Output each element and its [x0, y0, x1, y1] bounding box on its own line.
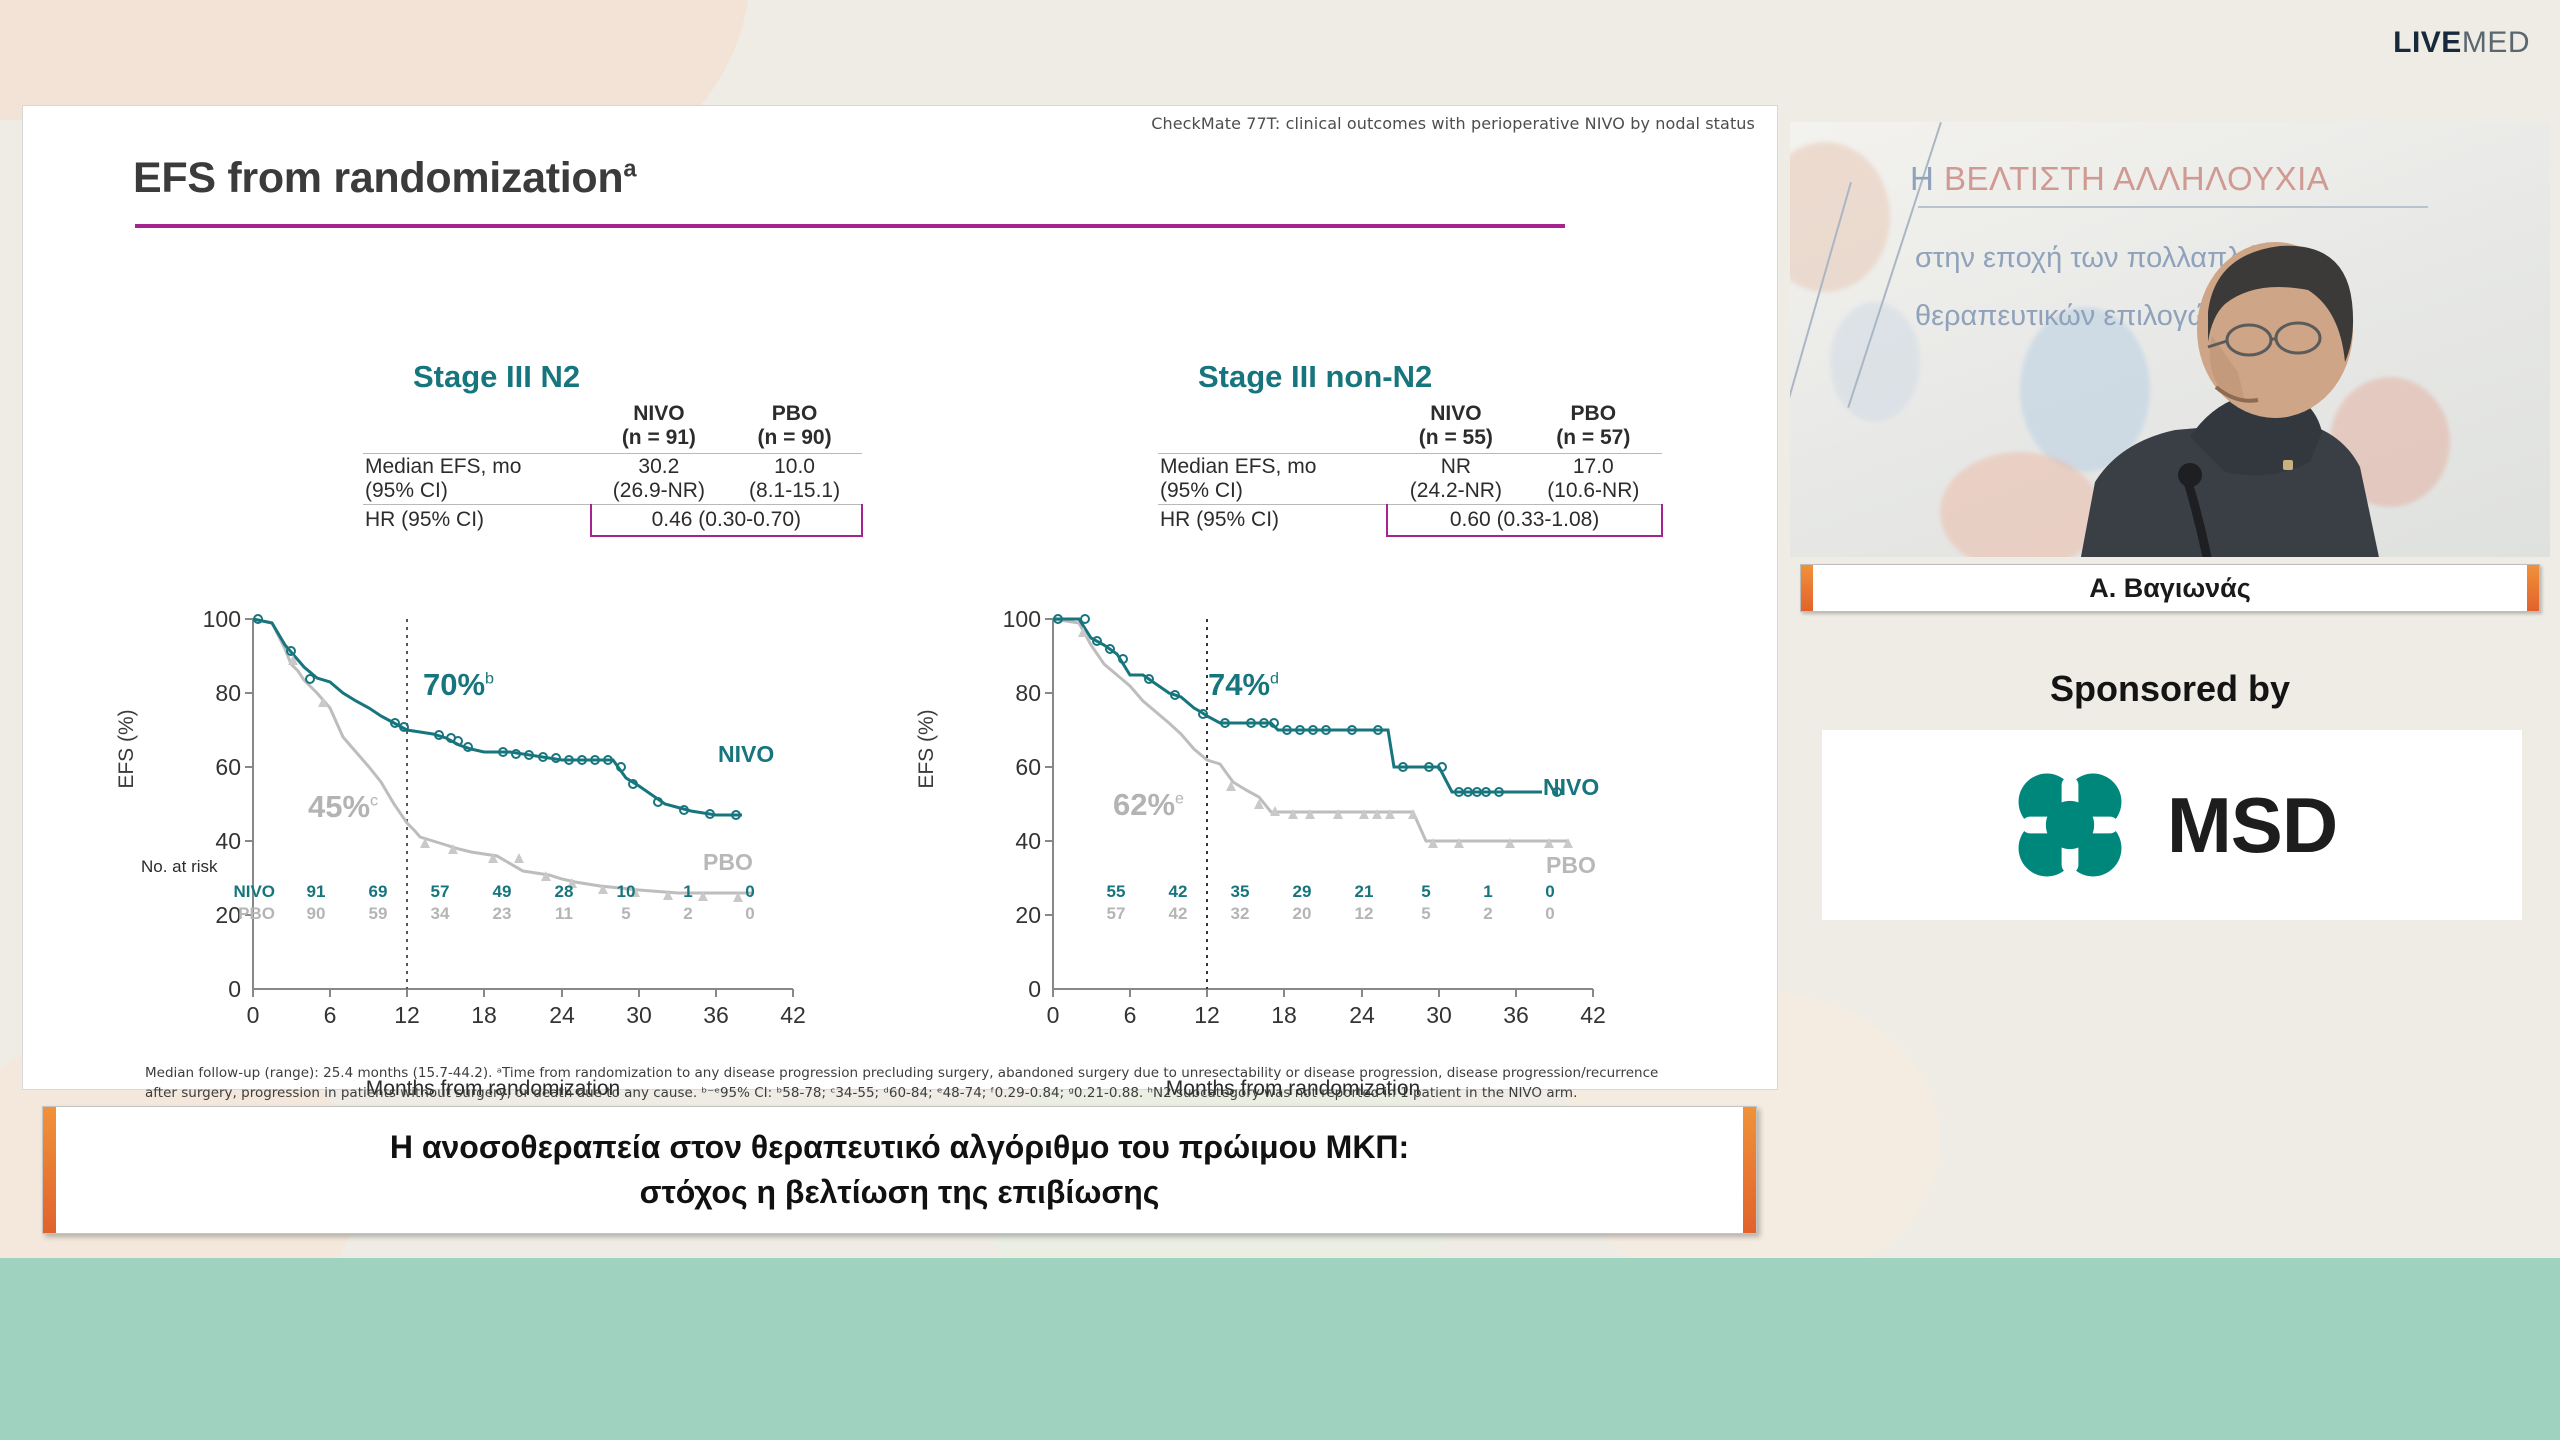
svg-text:42: 42	[1580, 1002, 1606, 1028]
row-label-median-efs-left-l1: Median EFS, mo	[365, 455, 521, 478]
svg-text:30: 30	[1426, 1002, 1452, 1028]
svg-text:18: 18	[1271, 1002, 1297, 1028]
at-risk-cell: 91	[285, 881, 347, 903]
at-risk-cell: 0	[1519, 903, 1581, 925]
stats-table-right: NIVO (n = 55) PBO (n = 57) Median EFS, m…	[1158, 401, 1663, 537]
col-header-pbo-left-n: (n = 90)	[758, 426, 832, 449]
table-row: NIVO 91 69 57 49 28 10 1 0	[223, 881, 781, 903]
milestone-pbo-left: 45%c	[308, 789, 378, 825]
svg-text:0: 0	[1028, 976, 1041, 1002]
at-risk-cell: 0	[1519, 881, 1581, 903]
presentation-slide[interactable]: CheckMate 77T: clinical outcomes with pe…	[22, 105, 1778, 1090]
speaker-name-bar: Α. Βαγιωνάς	[1800, 564, 2540, 612]
svg-text:6: 6	[324, 1002, 337, 1028]
cell-median-efs-nivo-left: 30.2 (26.9-NR)	[591, 454, 727, 505]
at-risk-row-spacer-nivo-right	[1023, 881, 1085, 903]
at-risk-cell: 5	[1395, 881, 1457, 903]
at-risk-cell: 1	[657, 881, 719, 903]
at-risk-caption-left: No. at risk	[141, 857, 218, 877]
milestone-nivo-left-sup: b	[485, 670, 494, 688]
msd-mark-icon	[2007, 762, 2133, 888]
sponsored-by-label: Sponsored by	[1800, 668, 2540, 710]
at-risk-cell: 12	[1333, 903, 1395, 925]
svg-text:36: 36	[703, 1002, 729, 1028]
svg-text:60: 60	[215, 754, 241, 780]
cell-median-efs-pbo-right-ci: (10.6-NR)	[1547, 479, 1639, 502]
cell-median-efs-pbo-right: 17.0 (10.6-NR)	[1525, 454, 1662, 505]
slide-title-superscript: a	[623, 157, 636, 183]
table-row: Median EFS, mo (95% CI) 30.2 (26.9-NR) 1…	[363, 454, 862, 505]
slide-footnotes: Median follow-up (range): 25.4 months (1…	[145, 1064, 1675, 1103]
svg-text:12: 12	[394, 1002, 420, 1028]
livemed-logo-bold: LIVE	[2393, 26, 2462, 59]
at-risk-cell: 34	[409, 903, 471, 925]
video-overlay-line1-plain: Η	[1910, 160, 1944, 197]
banner-text: Η ανοσοθεραπεία στον θεραπευτικό αλγόριθ…	[43, 1107, 1756, 1233]
y-axis-label-left: EFS (%)	[115, 709, 139, 788]
livemed-logo-light: MED	[2462, 26, 2530, 59]
at-risk-cell: 42	[1147, 903, 1209, 925]
km-svg-left: 100 80 60 40 20 0 0 6 12 18 24 30	[163, 599, 883, 1069]
series-label-nivo-left: NIVO	[718, 741, 774, 768]
at-risk-cell: 49	[471, 881, 533, 903]
svg-text:0: 0	[247, 1002, 260, 1028]
at-risk-cell: 69	[347, 881, 409, 903]
chart-panel-stage-iii-n2: Stage III N2 NIVO (n = 91) PBO (n = 90)	[123, 341, 933, 981]
km-plot-right: EFS (%) 100 80 60 40 20 0 0 6	[923, 599, 1733, 849]
at-risk-cell: 28	[533, 881, 595, 903]
milestone-pbo-right: 62%e	[1113, 787, 1184, 823]
svg-text:100: 100	[203, 606, 241, 632]
km-plot-left: EFS (%) 100 80 60 40 20 0	[123, 599, 933, 849]
at-risk-cell: 5	[595, 903, 657, 925]
cell-median-efs-nivo-right-v: NR	[1441, 455, 1471, 478]
at-risk-cell: 59	[347, 903, 409, 925]
stats-table-left: NIVO (n = 91) PBO (n = 90) Median EFS, m…	[363, 401, 863, 537]
at-risk-cell: 20	[1271, 903, 1333, 925]
speaker-video[interactable]: Η ΒΕΛΤΙΣΤΗ ΑΛΛΗΛΟΥΧΙΑ στην εποχή των πολ…	[1790, 122, 2550, 557]
row-label-hr-right: HR (95% CI)	[1158, 504, 1387, 536]
at-risk-cell: 29	[1271, 881, 1333, 903]
col-header-nivo-left-name: NIVO	[633, 402, 684, 425]
table-row: 57 42 32 20 12 5 2 0	[1023, 903, 1581, 925]
svg-text:80: 80	[215, 680, 241, 706]
svg-text:100: 100	[1003, 606, 1041, 632]
milestone-nivo-left: 70%b	[423, 667, 494, 703]
at-risk-cell: 2	[657, 903, 719, 925]
at-risk-cell: 2	[1457, 903, 1519, 925]
cell-median-efs-pbo-right-v: 17.0	[1573, 455, 1614, 478]
chart-panel-stage-iii-non-n2: Stage III non-N2 NIVO (n = 55) PBO (n = …	[923, 341, 1733, 981]
at-risk-cell: 1	[1457, 881, 1519, 903]
row-label-median-efs-right-l2: (95% CI)	[1160, 479, 1243, 502]
livemed-logo: LIVEMED	[2393, 26, 2530, 60]
cell-median-efs-nivo-right-ci: (24.2-NR)	[1410, 479, 1502, 502]
at-risk-cell: 11	[533, 903, 595, 925]
col-header-pbo-left: PBO (n = 90)	[727, 401, 862, 454]
row-label-median-efs-left: Median EFS, mo (95% CI)	[363, 454, 591, 505]
at-risk-cell: 55	[1085, 881, 1147, 903]
at-risk-row-spacer-pbo-right	[1023, 903, 1085, 925]
sponsor-name: MSD	[2167, 780, 2337, 871]
milestone-nivo-right-value: 74%	[1208, 667, 1270, 702]
video-overlay-line1: Η ΒΕΛΤΙΣΤΗ ΑΛΛΗΛΟΥΧΙΑ	[1910, 160, 2329, 198]
y-axis-label-right: EFS (%)	[915, 709, 939, 788]
speaker-name: Α. Βαγιωνάς	[1801, 565, 2539, 611]
panel-heading-left: Stage III N2	[413, 359, 580, 395]
slide-title-text: EFS from randomization	[133, 154, 623, 202]
svg-text:0: 0	[228, 976, 241, 1002]
svg-text:0: 0	[1047, 1002, 1060, 1028]
at-risk-row-name-pbo-left: PBO	[223, 903, 285, 925]
at-risk-cell: 57	[409, 881, 471, 903]
at-risk-cell: 57	[1085, 903, 1147, 925]
table-row: HR (95% CI) 0.46 (0.30-0.70)	[363, 504, 862, 536]
slide-header-note: CheckMate 77T: clinical outcomes with pe…	[1151, 114, 1755, 133]
svg-text:36: 36	[1503, 1002, 1529, 1028]
sponsor-logo: MSD	[1822, 730, 2522, 920]
at-risk-cell: 23	[471, 903, 533, 925]
svg-text:24: 24	[1349, 1002, 1375, 1028]
speaker-figure	[2040, 232, 2460, 557]
hr-value-box-left: 0.46 (0.30-0.70)	[591, 504, 862, 536]
at-risk-cell: 42	[1147, 881, 1209, 903]
svg-text:24: 24	[549, 1002, 575, 1028]
col-header-nivo-right-name: NIVO	[1430, 402, 1481, 425]
col-header-nivo-left: NIVO (n = 91)	[591, 401, 727, 454]
milestone-nivo-left-value: 70%	[423, 667, 485, 702]
footer-teal-blob	[0, 1258, 2560, 1440]
milestone-pbo-right-value: 62%	[1113, 787, 1175, 822]
table-row: PBO 90 59 34 23 11 5 2 0	[223, 903, 781, 925]
row-label-median-efs-right-l1: Median EFS, mo	[1160, 455, 1316, 478]
series-label-pbo-left: PBO	[703, 849, 753, 876]
row-label-median-efs-left-l2: (95% CI)	[365, 479, 448, 502]
milestone-nivo-right: 74%d	[1208, 667, 1279, 703]
hr-value-box-right: 0.60 (0.33-1.08)	[1387, 504, 1662, 536]
svg-text:12: 12	[1194, 1002, 1220, 1028]
svg-text:6: 6	[1124, 1002, 1137, 1028]
table-row: 55 42 35 29 21 5 1 0	[1023, 881, 1581, 903]
cell-median-efs-pbo-left-v: 10.0	[774, 455, 815, 478]
session-title-banner: Η ανοσοθεραπεία στον θεραπευτικό αλγόριθ…	[42, 1106, 1757, 1234]
panel-heading-right: Stage III non-N2	[1198, 359, 1432, 395]
at-risk-cell: 90	[285, 903, 347, 925]
col-header-pbo-right-name: PBO	[1571, 402, 1617, 425]
col-header-nivo-right-n: (n = 55)	[1419, 426, 1493, 449]
svg-text:40: 40	[215, 828, 241, 854]
svg-text:40: 40	[1015, 828, 1041, 854]
video-overlay-rule	[1918, 206, 2428, 208]
series-label-nivo-right: NIVO	[1543, 774, 1599, 801]
cell-median-efs-pbo-left: 10.0 (8.1-15.1)	[727, 454, 862, 505]
svg-text:42: 42	[780, 1002, 806, 1028]
at-risk-cell: 21	[1333, 881, 1395, 903]
series-label-pbo-right: PBO	[1546, 852, 1596, 879]
col-header-pbo-right-n: (n = 57)	[1556, 426, 1630, 449]
banner-line-1: Η ανοσοθεραπεία στον θεραπευτικό αλγόριθ…	[390, 1125, 1409, 1170]
col-header-nivo-left-n: (n = 91)	[622, 426, 696, 449]
banner-line-2: στόχος η βελτίωση της επιβίωσης	[640, 1170, 1160, 1215]
col-header-pbo-left-name: PBO	[772, 402, 818, 425]
milestone-nivo-right-sup: d	[1270, 670, 1279, 688]
svg-text:30: 30	[626, 1002, 652, 1028]
at-risk-cell: 0	[719, 881, 781, 903]
svg-text:60: 60	[1015, 754, 1041, 780]
at-risk-cell: 10	[595, 881, 657, 903]
cell-median-efs-nivo-right: NR (24.2-NR)	[1387, 454, 1524, 505]
col-header-pbo-right: PBO (n = 57)	[1525, 401, 1662, 454]
at-risk-row-name-nivo-left: NIVO	[223, 881, 285, 903]
svg-text:80: 80	[1015, 680, 1041, 706]
video-overlay-line1-highlight: ΒΕΛΤΙΣΤΗ ΑΛΛΗΛΟΥΧΙΑ	[1944, 160, 2329, 197]
cell-median-efs-pbo-left-ci: (8.1-15.1)	[749, 479, 840, 502]
milestone-pbo-left-sup: c	[370, 792, 378, 810]
screen-root: LIVEMED CheckMate 77T: clinical outcomes…	[0, 0, 2560, 1440]
svg-text:18: 18	[471, 1002, 497, 1028]
col-header-nivo-right: NIVO (n = 55)	[1387, 401, 1524, 454]
cell-median-efs-nivo-left-ci: (26.9-NR)	[613, 479, 705, 502]
at-risk-cell: 32	[1209, 903, 1271, 925]
milestone-pbo-left-value: 45%	[308, 789, 370, 824]
title-underline	[135, 224, 1565, 228]
cell-median-efs-nivo-left-v: 30.2	[638, 455, 679, 478]
table-row: Median EFS, mo (95% CI) NR (24.2-NR) 17.…	[1158, 454, 1662, 505]
row-label-median-efs-right: Median EFS, mo (95% CI)	[1158, 454, 1387, 505]
km-svg-right: 100 80 60 40 20 0 0 6 12 18 24 30	[963, 599, 1683, 1069]
slide-title: EFS from randomizationa	[133, 154, 636, 203]
table-row: HR (95% CI) 0.60 (0.33-1.08)	[1158, 504, 1662, 536]
at-risk-cell: 35	[1209, 881, 1271, 903]
row-label-hr-left: HR (95% CI)	[363, 504, 591, 536]
at-risk-cell: 5	[1395, 903, 1457, 925]
milestone-pbo-right-sup: e	[1175, 790, 1184, 808]
at-risk-cell: 0	[719, 903, 781, 925]
